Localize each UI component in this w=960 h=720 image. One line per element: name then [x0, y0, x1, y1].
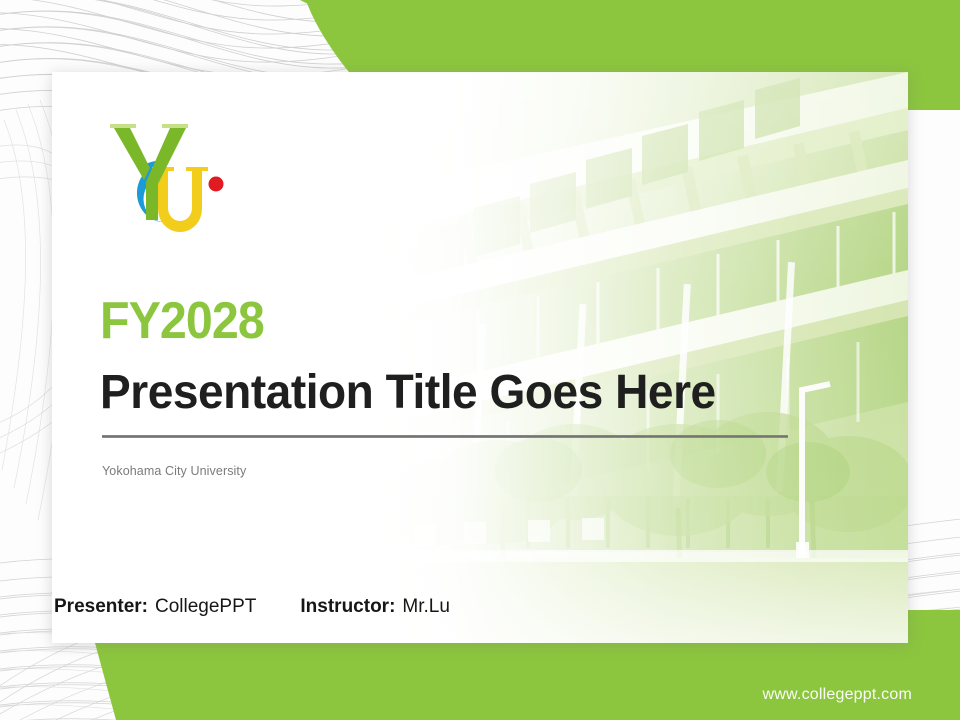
presentation-slide: FY2028 Presentation Title Goes Here Yoko… [0, 0, 960, 720]
footer-website-url[interactable]: www.collegeppt.com [763, 686, 912, 704]
instructor-label: Instructor: [300, 596, 395, 618]
slide-card: FY2028 Presentation Title Goes Here Yoko… [52, 72, 908, 643]
instructor-group: Instructor: Mr.Lu [300, 596, 450, 618]
fiscal-year-heading: FY2028 [100, 295, 264, 347]
presenter-value: CollegePPT [155, 596, 256, 618]
logo-red-dot [209, 177, 224, 192]
credits-row: Presenter: CollegePPT Instructor: Mr.Lu [54, 596, 450, 618]
page-title: Presentation Title Goes Here [100, 369, 716, 417]
ycu-logo [100, 110, 232, 234]
presenter-group: Presenter: CollegePPT [54, 596, 256, 618]
campus-building-photo [378, 72, 908, 643]
instructor-value: Mr.Lu [402, 596, 450, 618]
university-subtitle: Yokohama City University [102, 464, 246, 478]
presenter-label: Presenter: [54, 596, 148, 618]
title-divider [102, 435, 788, 438]
